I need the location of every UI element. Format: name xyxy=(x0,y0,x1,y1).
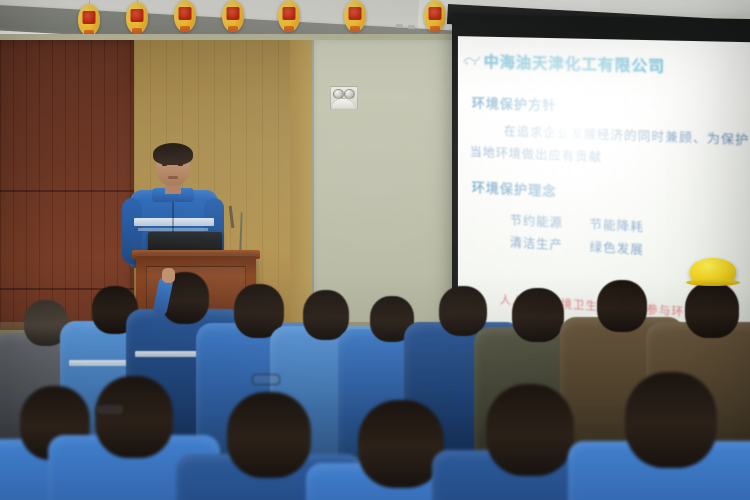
slide-item-2: 节能降耗 xyxy=(590,215,644,235)
presenter-mouth xyxy=(168,176,178,179)
slide-body-2: 当地环境做出应有贡献 xyxy=(470,143,602,166)
hanging-decoration xyxy=(78,4,100,36)
ceiling-vent-icon xyxy=(408,25,415,29)
audience-head xyxy=(625,372,717,468)
slide-item-3: 清洁生产 xyxy=(510,233,563,253)
audience-head xyxy=(597,280,647,332)
eyeglasses-icon xyxy=(252,374,280,385)
audience-member xyxy=(568,372,750,500)
hanging-decoration xyxy=(126,2,148,34)
hanging-decoration xyxy=(174,0,196,32)
audience-head xyxy=(486,384,574,476)
presenter-hair xyxy=(153,143,193,165)
hanging-decoration xyxy=(424,0,446,32)
presenter-eye-left xyxy=(162,164,167,166)
presenter-eye-right xyxy=(178,164,183,166)
slide-title: 中海油天津化工有限公司 xyxy=(484,51,665,77)
slide-item-1: 节约能源 xyxy=(510,211,563,231)
audience-head xyxy=(95,376,173,458)
slide-heading-2: 环境保护理念 xyxy=(472,177,557,200)
slide-item-4: 绿色发展 xyxy=(590,238,644,259)
audience-head xyxy=(685,282,739,338)
audience-head xyxy=(512,288,564,342)
raised-hand xyxy=(162,268,175,283)
company-logo-icon xyxy=(462,52,482,67)
presenter-reflective-stripe xyxy=(134,218,214,226)
slide-heading-1: 环境保护方针 xyxy=(472,93,557,115)
ceiling-vent-icon xyxy=(396,24,403,28)
yellow-hard-hat xyxy=(690,258,736,284)
emergency-light-icon xyxy=(330,86,358,110)
eyeglasses-icon xyxy=(96,404,124,415)
audience-head xyxy=(227,392,311,478)
hanging-decoration xyxy=(222,0,244,32)
conference-room-photo: 中海油天津化工有限公司 环境保护方针 在追求企业发展经济的同时兼顾、为保护 当地… xyxy=(0,0,750,500)
hanging-decoration xyxy=(344,0,366,32)
hanging-decoration xyxy=(278,0,300,32)
slide-body-1: 在追求企业发展经济的同时兼顾、为保护 xyxy=(504,122,749,149)
